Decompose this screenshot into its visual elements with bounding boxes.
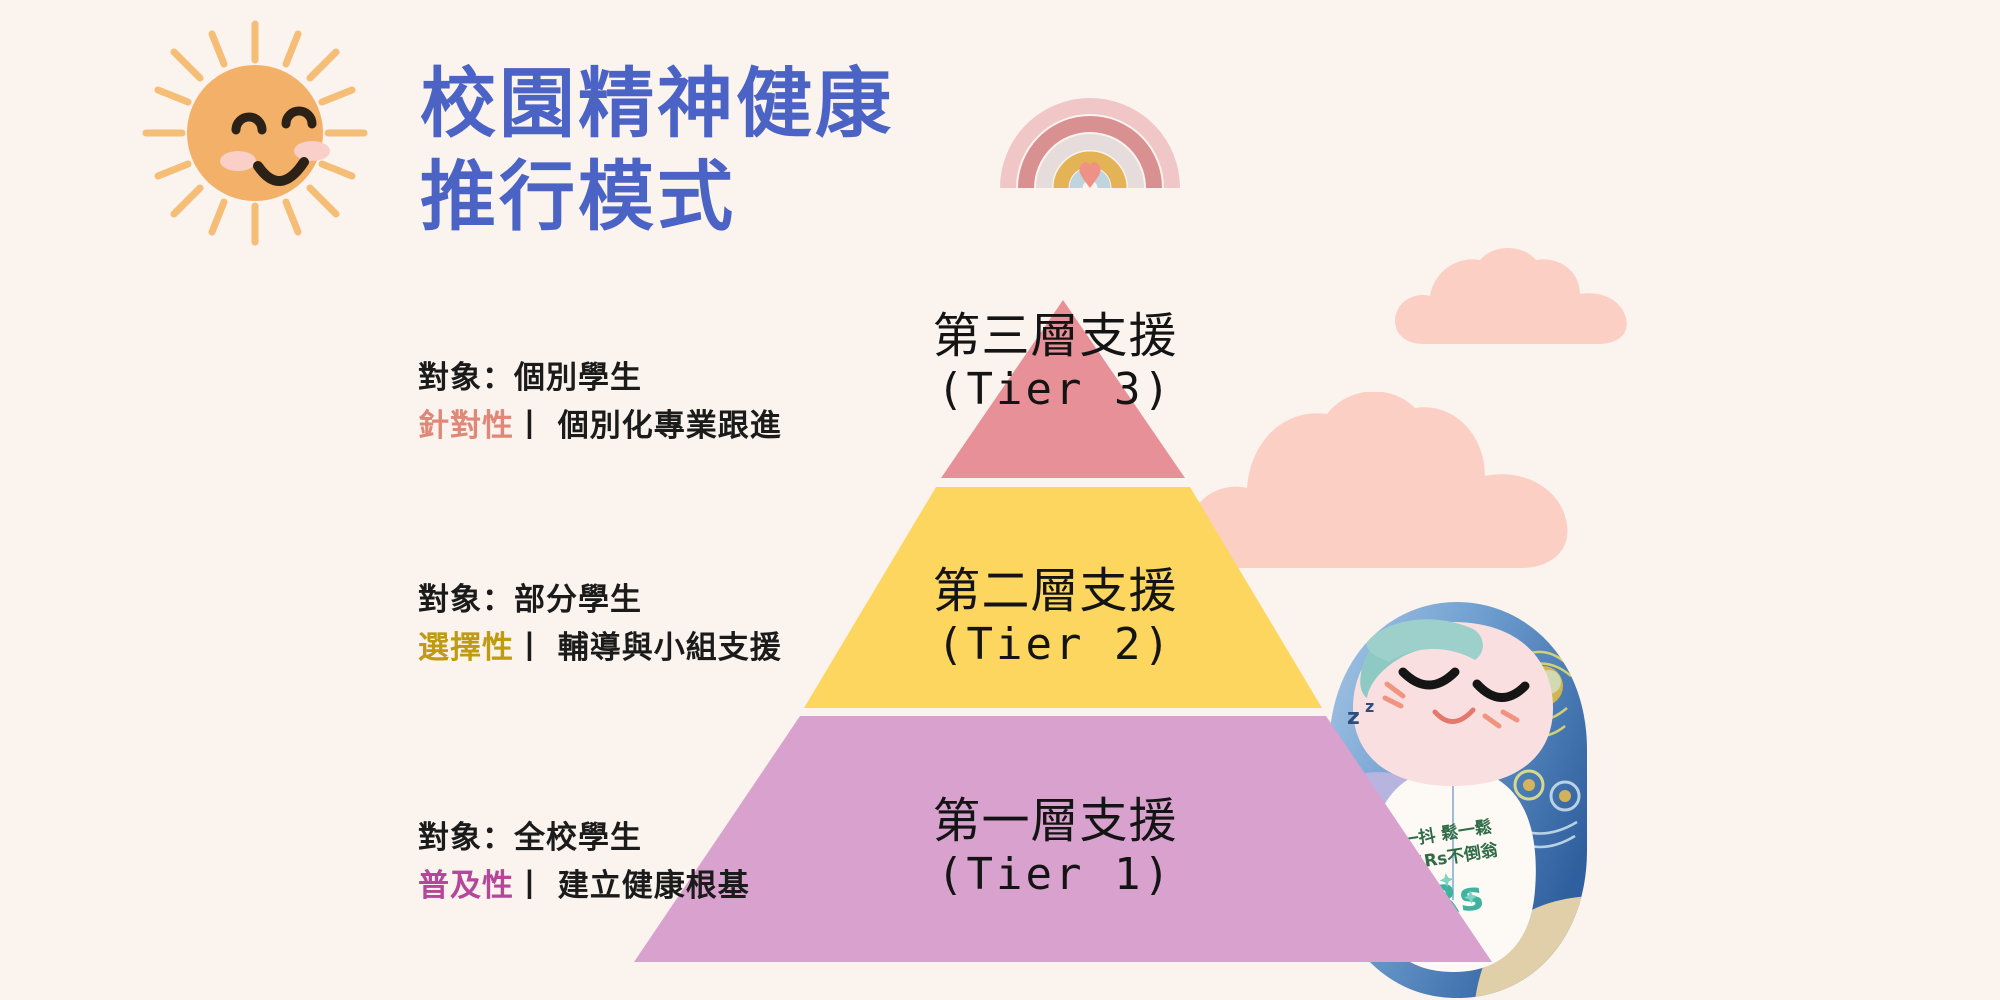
tier-1-audience: 對象：全校學生 [418,818,750,860]
tier-1-detail: 建立健康根基 [558,868,750,904]
tier-3-separator: 丨 [514,408,546,444]
tier-3-audience: 對象：個別學生 [418,358,782,400]
tier-3-keyword: 針對性 [418,408,514,444]
page-title-line-2: 推行模式 [420,151,1040,244]
tier-1-keyword: 普及性 [418,868,514,904]
tier-3-detail-row: 針對性丨 個別化專業跟進 [418,406,782,448]
tier-2-audience: 對象：部分學生 [418,580,782,622]
tier-2-trapezoid[interactable] [804,487,1322,708]
page-title-line-1: 校園精神健康 [420,58,1040,151]
tier-1-separator: 丨 [514,868,546,904]
tier-1-detail-row: 普及性丨 建立健康根基 [418,866,750,908]
page-title: 校園精神健康 推行模式 [420,58,1040,243]
tier-3-description: 對象：個別學生 針對性丨 個別化專業跟進 [418,358,782,448]
tier-2-keyword: 選擇性 [418,630,514,666]
tier-2-separator: 丨 [514,630,546,666]
tier-3-triangle[interactable] [941,300,1185,478]
tier-2-detail: 輔導與小組支援 [558,630,782,666]
poster-canvas: z z 抖一抖 鬆一鬆 擁抱4Rs不倒翁 4Rs 健康約章 [0,0,2000,1000]
tier-1-description: 對象：全校學生 普及性丨 建立健康根基 [418,818,750,908]
tier-3-detail: 個別化專業跟進 [558,408,782,444]
tier-2-description: 對象：部分學生 選擇性丨 輔導與小組支援 [418,580,782,670]
tier-1-trapezoid[interactable] [634,716,1492,962]
tier-2-detail-row: 選擇性丨 輔導與小組支援 [418,628,782,670]
